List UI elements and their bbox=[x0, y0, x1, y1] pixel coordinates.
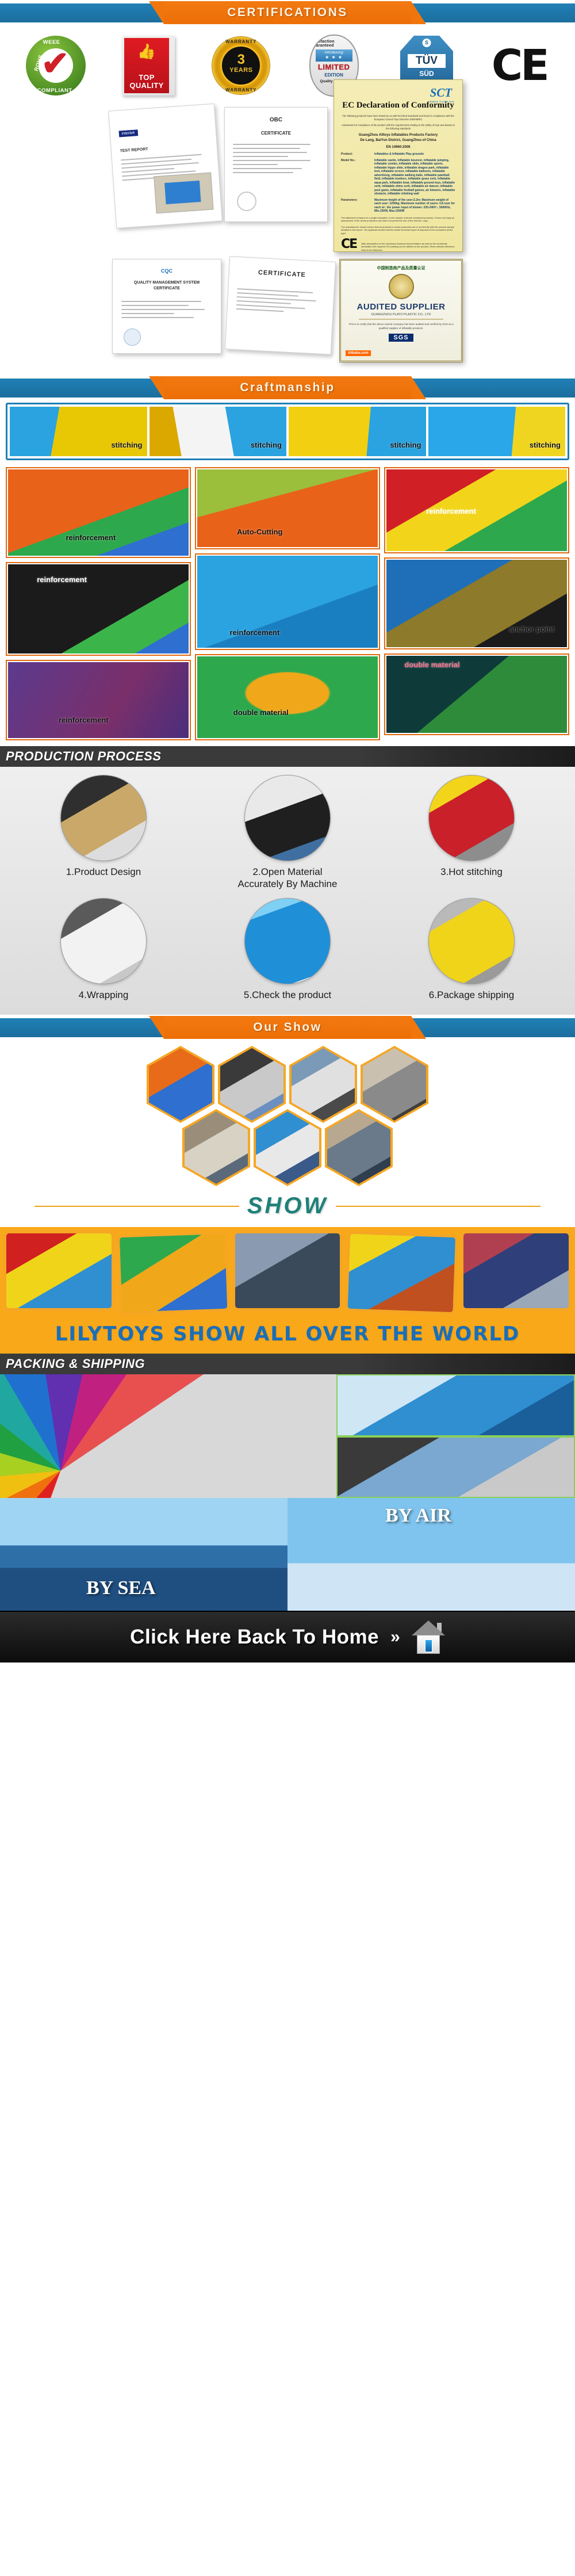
by-air-caption: BY AIR bbox=[385, 1505, 451, 1527]
ec-params-label: Parameters: bbox=[341, 198, 374, 213]
craftmanship-column: reinforcement anchor point double materi… bbox=[384, 467, 569, 740]
step-caption: 5.Check the product bbox=[233, 989, 342, 1001]
hexagon-photo[interactable] bbox=[325, 1109, 393, 1186]
craft-label: stitching bbox=[390, 441, 421, 449]
craft-label: reinforcement bbox=[37, 575, 87, 584]
by-air-photo[interactable]: BY AIR bbox=[287, 1498, 575, 1611]
qms-title: QUALITY MANAGEMENT SYSTEM CERTIFICATE bbox=[121, 280, 212, 292]
show-hexagon-collage: SHOW bbox=[0, 1040, 575, 1227]
step-photo bbox=[428, 898, 515, 984]
craft-stitching-photo[interactable]: stitching bbox=[10, 407, 147, 456]
section-header-craftmanship: Craftmanship bbox=[0, 375, 575, 400]
ec-footer-3: After preparation of the necessary techn… bbox=[361, 242, 455, 252]
packing-right-column bbox=[336, 1374, 575, 1498]
warranty-bottom-text: WARRANTY bbox=[212, 87, 270, 93]
section-title-our-show: Our Show bbox=[253, 1021, 321, 1034]
introducing-text: Introducing bbox=[316, 51, 352, 55]
packing-row-1 bbox=[0, 1374, 575, 1498]
packing-shipping-gallery: BY SEA BY AIR bbox=[0, 1374, 575, 1611]
ec-company-name: GuangZhou Alltoys Inflatables Products F… bbox=[341, 133, 455, 138]
ec-product-label: Product: bbox=[341, 152, 374, 156]
ec-footer-2: The manufacturer should ensure that all … bbox=[341, 226, 455, 235]
craft-photo-card[interactable]: Auto-Cutting bbox=[195, 467, 380, 549]
section-title-craftmanship: Craftmanship bbox=[240, 381, 335, 395]
section-header-certifications: CERTIFICATIONS bbox=[0, 0, 575, 25]
rolled-material-photo[interactable] bbox=[336, 1374, 575, 1436]
ec-model-label: Model No.: bbox=[341, 159, 374, 196]
production-step[interactable]: 1.Product Design bbox=[49, 775, 158, 890]
lilytoys-banner-text: LILYTOYS SHOW ALL OVER THE WORLD bbox=[0, 1317, 575, 1354]
production-process-grid: 1.Product Design 2.Open Material Accurat… bbox=[0, 767, 575, 1015]
craft-label: Auto-Cutting bbox=[237, 528, 282, 536]
hexagon-photo[interactable] bbox=[254, 1109, 321, 1186]
title-rule-left bbox=[34, 1206, 239, 1207]
ec-standard: EN 14960:2006 bbox=[341, 145, 455, 150]
section-header-production-process: PRODUCTION PROCESS bbox=[0, 746, 575, 767]
craft-photo-card[interactable]: double material bbox=[384, 653, 569, 735]
back-to-home-label: Click Here Back To Home bbox=[130, 1626, 379, 1649]
ribbon-center-certifications: CERTIFICATIONS bbox=[164, 1, 411, 24]
craft-stitching-photo[interactable]: stitching bbox=[149, 407, 287, 456]
audited-cn-title: 中国制造商产品及质量认证 bbox=[377, 265, 425, 271]
craft-label: reinforcement bbox=[66, 533, 116, 542]
step-photo bbox=[428, 775, 515, 861]
ec-footer-1: The statement is based on a single evalu… bbox=[341, 216, 455, 223]
step-photo bbox=[60, 898, 147, 984]
audited-supplier-body: This is to certify that the above named … bbox=[347, 322, 455, 330]
section-title-certifications: CERTIFICATIONS bbox=[227, 6, 348, 20]
craftmanship-column: reinforcement reinforcement reinforcemen… bbox=[6, 467, 191, 740]
by-sea-caption: BY SEA bbox=[86, 1577, 156, 1599]
craft-label: stitching bbox=[111, 441, 142, 449]
craft-label: reinforcement bbox=[426, 507, 476, 515]
production-process-row: 1.Product Design 2.Open Material Accurat… bbox=[11, 775, 563, 890]
container-loading-photo[interactable] bbox=[336, 1436, 575, 1499]
production-step[interactable]: 2.Open Material Accurately By Machine bbox=[233, 775, 342, 890]
ce-mark-badge: CE bbox=[481, 33, 557, 98]
rohs-weee-compliant-badge: ROHS WEEE COMPLIANT ✔ bbox=[18, 33, 94, 98]
packing-row-2: BY SEA BY AIR bbox=[0, 1498, 575, 1611]
craft-label: reinforcement bbox=[59, 716, 109, 724]
sgs-logo: SGS bbox=[389, 334, 413, 342]
lilytoys-photo-strip bbox=[0, 1230, 575, 1317]
craft-photo-card[interactable]: reinforcement bbox=[6, 660, 191, 740]
warranty-unit: YEARS bbox=[212, 67, 270, 74]
craft-label: double material bbox=[233, 708, 289, 717]
craft-label: stitching bbox=[530, 441, 561, 449]
ribbon-bar-left bbox=[0, 379, 172, 398]
ec-params-value: Maximum height of the user:2.2m; Maximum… bbox=[374, 198, 455, 213]
ce-mark-text: CE bbox=[492, 44, 547, 87]
ribbon-center-our-show: Our Show bbox=[164, 1016, 411, 1039]
section-header-our-show: Our Show bbox=[0, 1015, 575, 1040]
craft-photo-card[interactable]: double material bbox=[195, 654, 380, 740]
badge-compliant-text: COMPLIANT bbox=[37, 87, 72, 94]
craft-label: stitching bbox=[251, 441, 282, 449]
show-title-bar: SHOW bbox=[0, 1186, 575, 1225]
sct-logo: SCT bbox=[430, 86, 453, 100]
step-caption: 3.Hot stitching bbox=[417, 866, 526, 878]
gold-seal-icon bbox=[389, 274, 414, 299]
limited-text: LIMITED bbox=[318, 63, 350, 71]
warranty-number: 3 bbox=[212, 52, 270, 68]
certificate-document[interactable]: CERTIFICATE bbox=[225, 256, 336, 354]
hexagon-row-2 bbox=[0, 1109, 575, 1186]
quality-management-system-certificate[interactable]: CQC QUALITY MANAGEMENT SYSTEM CERTIFICAT… bbox=[112, 259, 221, 354]
booth-photo[interactable] bbox=[117, 1231, 231, 1316]
production-step[interactable]: 3.Hot stitching bbox=[417, 775, 526, 890]
craftmanship-grid: reinforcement reinforcement reinforcemen… bbox=[0, 467, 575, 746]
section-title-packing-shipping: PACKING & SHIPPING bbox=[0, 1356, 145, 1371]
craft-photo-card[interactable]: reinforcement bbox=[6, 562, 191, 656]
craft-photo-card[interactable]: anchor point bbox=[384, 557, 569, 649]
craft-photo-card[interactable]: reinforcement bbox=[195, 553, 380, 650]
cqc-logo: OBC bbox=[270, 117, 282, 123]
home-icon bbox=[412, 1620, 445, 1654]
sct-logo-sub: Safety Credit test bbox=[430, 100, 454, 103]
certification-badges-row: ROHS WEEE COMPLIANT ✔ 👍 TOP QUALITY bbox=[0, 25, 575, 104]
tuv-seal-icon: S bbox=[422, 39, 431, 47]
step-caption: 2.Open Material Accurately By Machine bbox=[233, 866, 342, 890]
craft-label: reinforcement bbox=[230, 628, 280, 637]
certificate-title: CERTIFICATE bbox=[258, 269, 306, 278]
craft-label: double material bbox=[404, 660, 459, 669]
tuv-text: TÜV bbox=[408, 55, 446, 67]
audited-supplier-title: AUDITED SUPPLIER bbox=[357, 302, 446, 312]
warranty-top-text: WARRANTY bbox=[212, 39, 270, 44]
step-caption: 1.Product Design bbox=[49, 866, 158, 878]
check-icon: ✔ bbox=[41, 46, 77, 82]
audited-supplier-certificate[interactable]: 中国制造商产品及质量认证 AUDITED SUPPLIER GUANGZHOU … bbox=[339, 259, 463, 362]
craft-stitching-photo[interactable]: stitching bbox=[289, 407, 426, 456]
production-step[interactable]: 6.Package shipping bbox=[417, 898, 526, 1001]
cqc-title: CERTIFICATE bbox=[261, 131, 291, 136]
section-header-packing-shipping: PACKING & SHIPPING bbox=[0, 1354, 575, 1374]
production-step[interactable]: 5.Check the product bbox=[233, 898, 342, 1001]
show-title-text: SHOW bbox=[247, 1193, 328, 1219]
ribbon-bar-right bbox=[402, 3, 575, 22]
certificate-row-1: intertek TEST REPORT OBC CERTIFICATE bbox=[5, 107, 570, 252]
intertek-logo: intertek bbox=[118, 129, 138, 137]
ribbon-center-craftmanship: Craftmanship bbox=[164, 376, 411, 399]
edition-text: EDITION bbox=[324, 72, 343, 78]
stars-icon: ★ ★ ★ bbox=[316, 55, 352, 60]
production-step[interactable]: 4.Wrapping bbox=[49, 898, 158, 1001]
craft-photo-card[interactable]: reinforcement bbox=[384, 467, 569, 553]
top-quality-badge: 👍 TOP QUALITY bbox=[110, 33, 186, 98]
hexagon-photo[interactable] bbox=[182, 1109, 250, 1186]
section-title-production-process: PRODUCTION PROCESS bbox=[0, 749, 162, 764]
booth-photo[interactable] bbox=[3, 1230, 114, 1311]
step-caption: 4.Wrapping bbox=[49, 989, 158, 1001]
ribbon-bar-left bbox=[0, 1018, 172, 1037]
ribbon-bar-right bbox=[402, 379, 575, 398]
craft-label: anchor point bbox=[509, 625, 554, 633]
ribbon-bar-right bbox=[402, 1018, 575, 1037]
satisfaction-guaranteed-text: Satisfaction Guaranteed bbox=[310, 40, 358, 48]
step-photo bbox=[244, 898, 331, 984]
back-to-home-button[interactable]: Click Here Back To Home » bbox=[0, 1611, 575, 1662]
intertek-test-report-document[interactable]: intertek TEST REPORT bbox=[108, 104, 223, 228]
ec-model-value: Inflatable castle, inflatable bouncer, i… bbox=[374, 159, 455, 196]
color-samples-photo[interactable] bbox=[0, 1374, 336, 1498]
step-photo bbox=[244, 775, 331, 861]
by-sea-photo[interactable]: BY SEA bbox=[0, 1498, 287, 1611]
booth-photo[interactable] bbox=[461, 1230, 572, 1311]
step-photo bbox=[60, 775, 147, 861]
lilytoys-world-banner: LILYTOYS SHOW ALL OVER THE WORLD bbox=[0, 1227, 575, 1354]
production-process-row: 4.Wrapping 5.Check the product 6.Package… bbox=[11, 898, 563, 1001]
ec-company-address: De Lang, BaiYun District, GuangZhou of C… bbox=[341, 138, 455, 143]
ec-intro-1: The following products have been tested … bbox=[341, 114, 455, 121]
ribbon-bar-left bbox=[0, 3, 172, 22]
badge-top-text: TOP bbox=[129, 74, 163, 82]
chevron-right-icon: » bbox=[390, 1627, 400, 1647]
thumbs-up-icon: 👍 bbox=[137, 43, 156, 60]
cqc-brand-logo: CQC bbox=[161, 268, 172, 274]
alibaba-logo: Alibaba.com bbox=[346, 350, 371, 356]
craft-stitching-photo[interactable]: stitching bbox=[428, 407, 566, 456]
craft-photo-card[interactable]: reinforcement bbox=[6, 467, 191, 558]
ec-declaration-of-conformity-document[interactable]: SCT Safety Credit test EC Declaration of… bbox=[333, 79, 463, 252]
three-year-warranty-badge: WARRANTY 3 YEARS WARRANTY bbox=[203, 33, 279, 98]
sud-text: SÜD bbox=[419, 70, 434, 78]
badge-quality-text: QUALITY bbox=[129, 82, 163, 90]
booth-photo[interactable] bbox=[345, 1231, 459, 1316]
ec-product-value: Inflatables & Inflatable Play grounds bbox=[374, 152, 424, 156]
step-caption: 6.Package shipping bbox=[417, 989, 526, 1001]
craftmanship-stitching-strip: stitching stitching stitching stitching bbox=[0, 400, 575, 467]
test-report-heading: TEST REPORT bbox=[120, 147, 148, 153]
product-detail-page: CERTIFICATIONS ROHS WEEE COMPLIANT ✔ 👍 bbox=[0, 0, 575, 1662]
title-rule-right bbox=[336, 1206, 540, 1207]
ec-intro-2: Assessment of compliance of the product … bbox=[341, 124, 455, 131]
cqc-certificate-document[interactable]: OBC CERTIFICATE bbox=[224, 107, 328, 222]
certificate-row-2: CQC QUALITY MANAGEMENT SYSTEM CERTIFICAT… bbox=[5, 259, 570, 362]
booth-photo[interactable] bbox=[232, 1230, 343, 1311]
certificate-documents: intertek TEST REPORT OBC CERTIFICATE bbox=[0, 104, 575, 375]
craftmanship-column: Auto-Cutting reinforcement double materi… bbox=[195, 467, 380, 740]
ce-mark-icon: CE bbox=[341, 237, 356, 251]
audited-supplier-company: GUANGZHOU PLATO PLASTIC CO., LTD bbox=[371, 313, 431, 316]
